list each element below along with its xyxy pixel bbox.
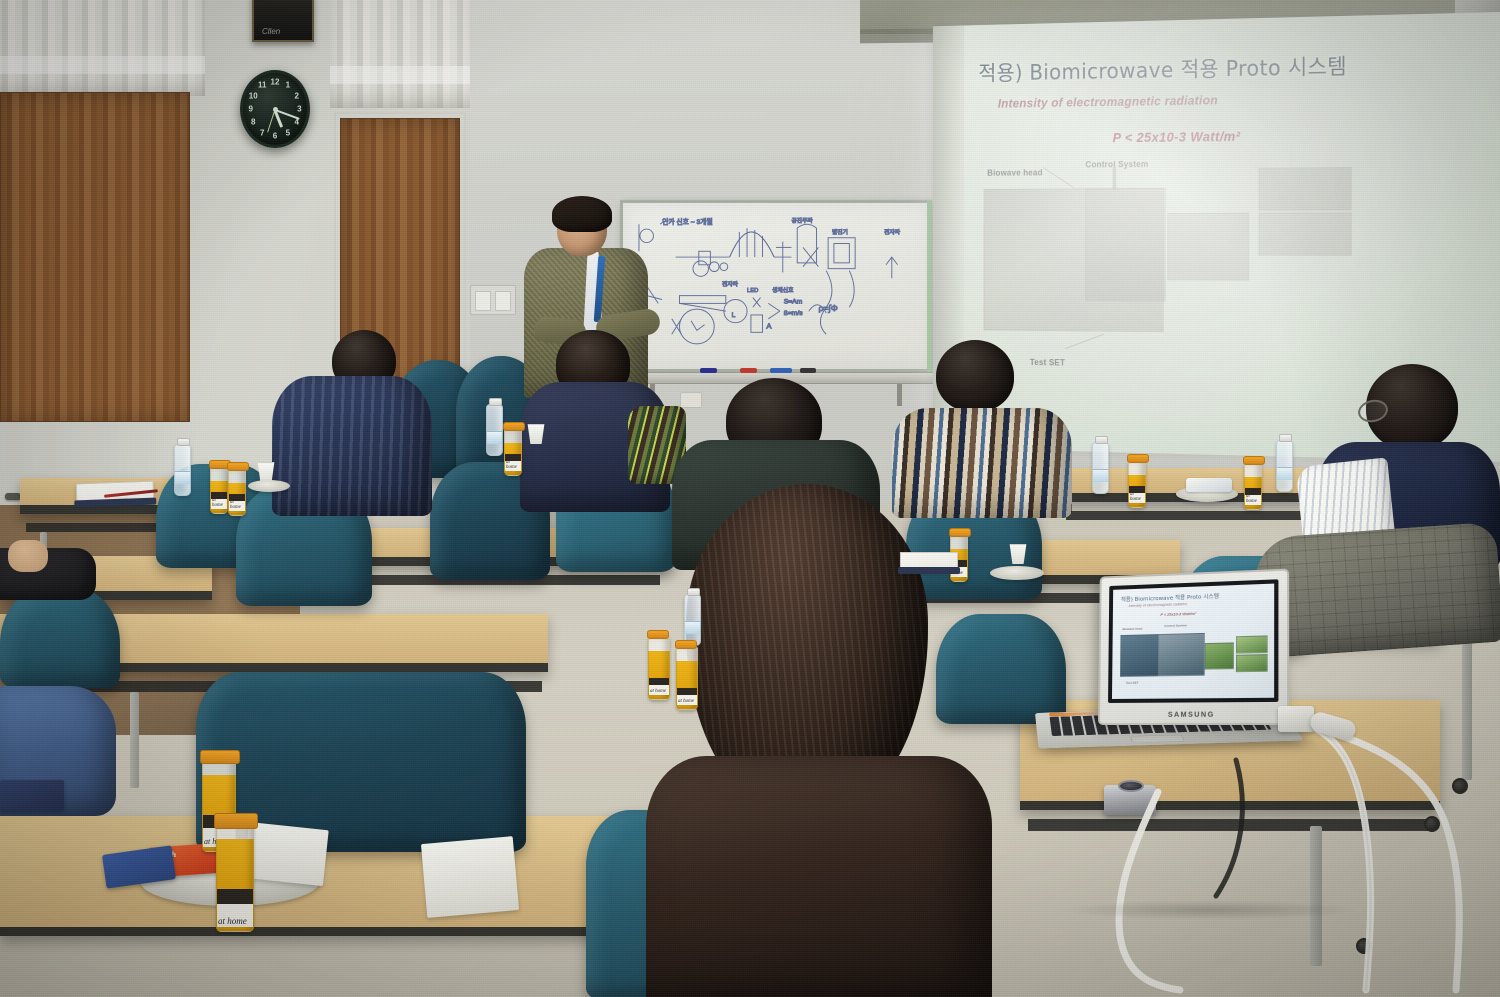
table-leg <box>130 692 139 788</box>
slide-photo-testset <box>1167 213 1249 281</box>
svg-text:LED: LED <box>747 288 758 294</box>
attendee-plaid-coat <box>1252 522 1500 659</box>
laptop-label-control: Control System <box>1164 623 1186 628</box>
slide-title: 적용) Biomicrowave 적용 Proto 시스템 <box>978 46 1482 87</box>
vga-connector <box>1278 706 1314 732</box>
svg-text:공진주파: 공진주파 <box>791 216 813 224</box>
clock-numeral: 9 <box>248 105 252 114</box>
svg-text:A: A <box>766 321 772 330</box>
svg-text:생체신호: 생체신호 <box>772 286 794 294</box>
cables <box>1040 700 1500 997</box>
marker-red[interactable] <box>740 368 757 373</box>
attendee-head <box>936 340 1014 412</box>
light-switch-left[interactable] <box>475 291 491 311</box>
water-bottle[interactable] <box>1092 442 1109 494</box>
water-bottle[interactable] <box>684 594 701 646</box>
attendee-top <box>646 756 992 997</box>
juice-bottle[interactable]: at home <box>1244 462 1262 510</box>
clock-numeral: 12 <box>271 77 280 86</box>
laptop-slide-subtitle: Intensity of electromagnetic radiation <box>1129 602 1188 608</box>
attendee-knit <box>892 408 1072 518</box>
laptop-photo-4 <box>1236 635 1268 653</box>
snack-on-plate <box>1186 478 1232 492</box>
speaker-signature: Cllen <box>262 27 280 36</box>
slide-photo-field-1 <box>1259 167 1352 211</box>
wall-clock: 12 1 2 3 4 5 6 7 8 9 10 11 <box>240 70 310 148</box>
clock-numeral: 8 <box>251 117 255 126</box>
laptop-label-testset: Test SET <box>1126 681 1139 685</box>
slide-subtitle: Intensity of electromagnetic radiation <box>998 88 1482 110</box>
attendee-hand <box>8 540 48 572</box>
laptop-slide-equation: P < 25x10-3 Watt/m² <box>1160 612 1196 617</box>
juice-bottle[interactable]: at home <box>210 466 228 514</box>
clock-numeral: 1 <box>286 81 290 90</box>
blue-folder-left[interactable] <box>0 780 64 810</box>
juice-bottle[interactable]: at home <box>676 646 698 710</box>
marker-blue[interactable] <box>700 368 717 373</box>
juice-brand-label: at home <box>230 500 245 510</box>
slide-label-test-set: Test SET <box>1030 357 1065 367</box>
notepad[interactable] <box>900 552 958 572</box>
marker-black[interactable] <box>800 368 816 373</box>
juice-bottle-tall-front[interactable]: at home <box>216 824 254 932</box>
svg-text:ρ=∫Φ: ρ=∫Φ <box>818 303 837 313</box>
clock-numeral: 3 <box>297 105 301 114</box>
clock-numeral: 10 <box>249 92 258 101</box>
water-bottle[interactable] <box>486 404 503 456</box>
juice-bottle[interactable]: at home <box>228 468 246 516</box>
attendee-jacket <box>272 376 432 516</box>
svg-text:L: L <box>732 312 736 319</box>
door-left[interactable] <box>0 92 190 422</box>
laptop-screen[interactable]: 적용) Biomicrowave 적용 Proto 시스템 Intensity … <box>1112 584 1274 699</box>
slide-photo-control <box>1085 188 1165 302</box>
laptop-label-biowave: Biowave head <box>1123 627 1143 632</box>
curtain-center <box>330 0 470 108</box>
presenter-hair <box>552 196 612 232</box>
door-handle-icon <box>5 493 21 500</box>
chair[interactable] <box>0 588 120 688</box>
marker-blue-2[interactable] <box>770 368 792 373</box>
svg-text:인가 신호 ~ 3개월: 인가 신호 ~ 3개월 <box>662 217 713 226</box>
clock-numeral: 2 <box>295 92 299 101</box>
clock-numeral: 6 <box>273 132 277 141</box>
laptop-photo-5 <box>1236 654 1268 672</box>
whiteboard-drawing: 인가 신호 ~ 3개월 공진주파 발진기 <box>623 203 929 369</box>
wall-speaker: Cllen <box>252 0 314 42</box>
svg-text:발진기: 발진기 <box>832 228 848 236</box>
laptop-photo-3 <box>1205 642 1234 669</box>
curtain-left <box>0 0 205 96</box>
svg-text:전자파: 전자파 <box>884 228 901 236</box>
laptop-bezel: 적용) Biomicrowave 적용 Proto 시스템 Intensity … <box>1108 579 1278 703</box>
water-bottle[interactable] <box>174 444 191 496</box>
plate <box>248 480 290 492</box>
juice-bottle[interactable]: at home <box>1128 460 1146 508</box>
clock-center-pin <box>273 107 278 112</box>
napkin[interactable] <box>243 822 328 886</box>
juice-brand-label: at home <box>212 498 227 508</box>
clock-numeral: 7 <box>260 128 264 137</box>
napkin-2[interactable] <box>421 836 519 918</box>
svg-text:전자파: 전자파 <box>722 280 739 288</box>
water-bottle[interactable] <box>1276 440 1293 492</box>
slide-label-control-system: Control System <box>1085 159 1148 169</box>
floor-shadow <box>1060 900 1360 920</box>
seminar-room-photo: Cllen 12 1 2 3 4 5 6 7 8 9 10 11 인가 신호 ~… <box>0 0 1500 997</box>
svg-text:S=Am: S=Am <box>784 298 803 305</box>
svg-text:ß=m/s: ß=m/s <box>784 310 804 317</box>
juice-bottle[interactable]: at home <box>648 636 670 700</box>
clock-numeral: 5 <box>286 128 290 137</box>
juice-bottle[interactable]: at home <box>504 428 522 476</box>
slide-photo-field-2 <box>1259 212 1352 255</box>
slide-equation: P < 25x10-3 Watt/m² <box>1113 125 1483 145</box>
clock-numeral: 11 <box>258 81 266 90</box>
whiteboard: 인가 신호 ~ 3개월 공진주파 발진기 <box>620 200 932 372</box>
light-switch-plate[interactable] <box>470 285 516 315</box>
clock-second-hand <box>267 109 275 132</box>
plate <box>990 566 1044 580</box>
slide-label-biowave-head: Biowave head <box>987 168 1042 178</box>
laptop-photo-2 <box>1158 633 1205 676</box>
light-switch-right[interactable] <box>495 291 511 311</box>
